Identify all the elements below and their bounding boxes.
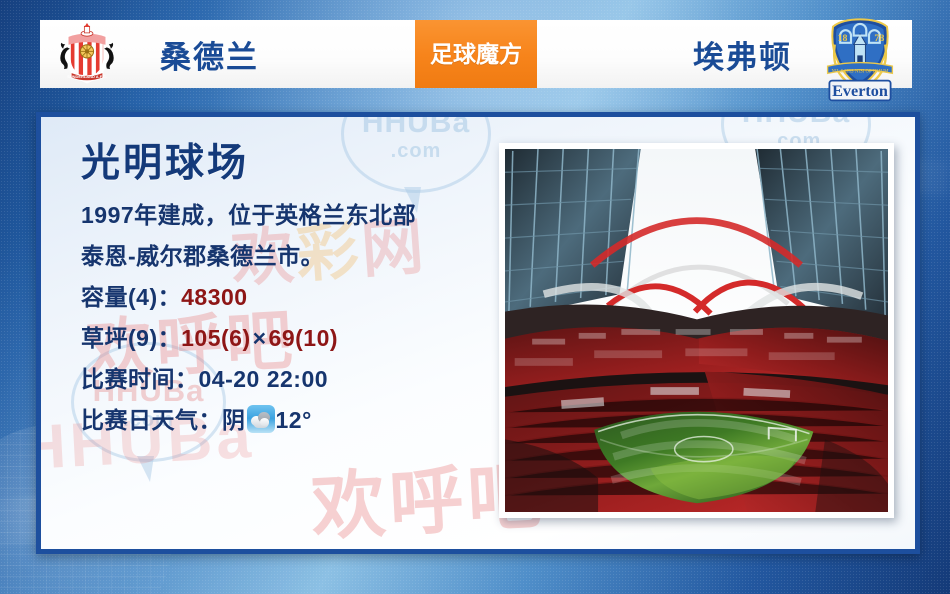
stadium-description-line-1: 1997年建成，位于英格兰东北部 (81, 195, 416, 236)
site-logo-badge[interactable]: 足球魔方 (415, 20, 537, 88)
match-time-label: 比赛时间： (81, 366, 199, 392)
stadium-description-line-2: 泰恩-威尔郡桑德兰市。 (81, 236, 416, 277)
weather-label: 比赛日天气： (81, 407, 222, 433)
away-team-block[interactable]: 埃弗顿 18 78 (537, 20, 912, 88)
stadium-of-light-interior-photo (505, 149, 888, 512)
weather-temperature: 12° (276, 407, 312, 433)
stadium-title: 光明球场 (81, 142, 416, 187)
svg-text:78: 78 (874, 33, 884, 44)
home-team-name: 桑德兰 (160, 32, 259, 77)
svg-text:18: 18 (838, 33, 848, 44)
away-team-name: 埃弗顿 (693, 32, 792, 77)
pitch-multiplication-sign: × (251, 325, 269, 351)
home-crest-slot: SUNDERLAND A.F.C. (40, 20, 160, 88)
svg-text:SUNDERLAND A.F.C.: SUNDERLAND A.F.C. (67, 74, 107, 79)
capacity-label: 容量(4)： (81, 284, 181, 310)
capacity-row: 容量(4)：48300 (81, 277, 416, 318)
stadium-info-card: HHUBa .com HHUBa .com HHUBa .com HHUBa .… (36, 112, 920, 554)
weather-condition: 阴 (222, 407, 246, 433)
svg-text:Everton: Everton (832, 82, 888, 100)
stadium-photo-frame[interactable] (499, 143, 894, 518)
everton-fc-crest-icon: 18 78 NIL SATIS NISI OPTIMUM Everton (814, 14, 906, 104)
sunderland-afc-crest-icon: SUNDERLAND A.F.C. (54, 21, 120, 87)
match-header-bar: SUNDERLAND A.F.C. 桑德兰 足球魔方 埃弗顿 (40, 20, 912, 88)
capacity-value: 48300 (181, 284, 247, 310)
svg-text:NIL SATIS NISI OPTIMUM: NIL SATIS NISI OPTIMUM (832, 70, 890, 75)
pitch-label: 草坪(9)： (81, 325, 181, 351)
watermark-bubble-text: HHUBa (742, 112, 850, 130)
pitch-length-value: 105(6) (181, 325, 250, 351)
pitch-row: 草坪(9)：105(6)×69(10) (81, 318, 416, 359)
home-team-block[interactable]: SUNDERLAND A.F.C. 桑德兰 (40, 20, 415, 88)
stadium-info-text-block: 光明球场 1997年建成，位于英格兰东北部 泰恩-威尔郡桑德兰市。 容量(4)：… (81, 142, 416, 441)
watermark-bubble-text: HHUBa (362, 112, 470, 140)
match-time-row: 比赛时间：04-20 22:00 (81, 359, 416, 400)
cloudy-weather-icon (247, 405, 275, 433)
match-weather-row: 比赛日天气：阴12° (81, 400, 416, 441)
site-logo-text: 足球魔方 (430, 43, 522, 66)
stadium-description-text-1: 1997年建成，位于英格兰东北部 (81, 202, 416, 228)
match-time-value: 04-20 22:00 (199, 366, 329, 392)
pitch-width-value: 69(10) (269, 325, 338, 351)
away-crest-slot: 18 78 NIL SATIS NISI OPTIMUM Everton (792, 20, 912, 88)
stadium-description-text-2: 泰恩-威尔郡桑德兰市。 (81, 243, 324, 269)
